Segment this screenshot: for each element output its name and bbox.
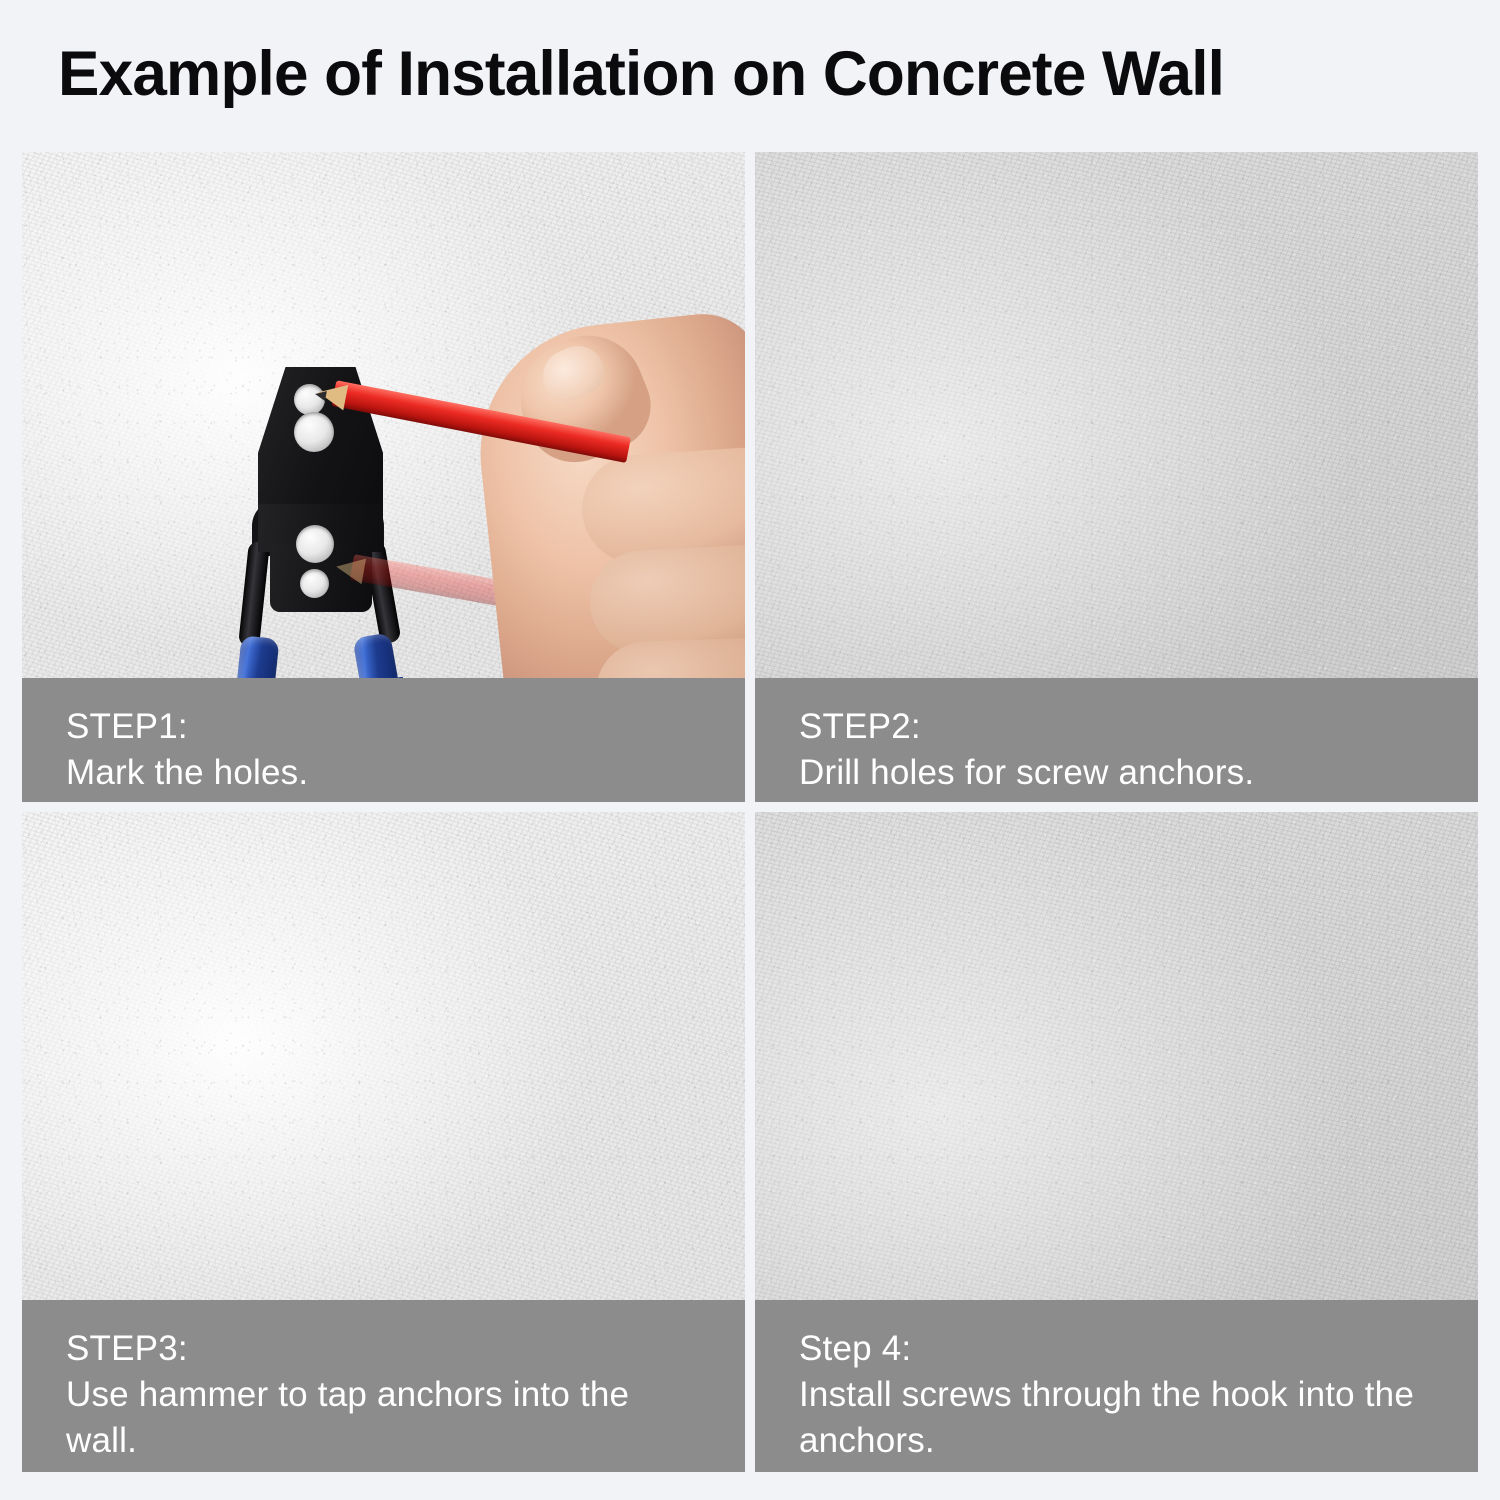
step-3-text: Use hammer to tap anchors into the wall. (66, 1372, 701, 1464)
step-panel-2: 13 11 9 STEP2: Drill holes for screw anc… (755, 152, 1478, 802)
step-panel-3: STEP3: Use hammer to tap anchors into th… (22, 812, 745, 1472)
step-1-label: STEP1: (66, 704, 701, 750)
step-3-caption: STEP3: Use hammer to tap anchors into th… (22, 1300, 745, 1472)
step-4-text: Install screws through the hook into the… (799, 1372, 1434, 1464)
step-4-caption: Step 4: Install screws through the hook … (755, 1300, 1478, 1472)
pencil-lead-icon (314, 389, 327, 401)
step-4-label: Step 4: (799, 1326, 1434, 1372)
screw-hole-4 (300, 569, 329, 598)
step-panel-1: STEP1: Mark the holes. (22, 152, 745, 802)
screw-hole-2 (294, 412, 334, 452)
step-2-caption: STEP2: Drill holes for screw anchors. (755, 678, 1478, 802)
page-title: Example of Installation on Concrete Wall (58, 34, 1437, 114)
step-2-label: STEP2: (799, 704, 1434, 750)
step-1-text: Mark the holes. (66, 750, 701, 796)
step-2-text: Drill holes for screw anchors. (799, 750, 1434, 796)
pencil-ghost-tip-icon (334, 554, 366, 584)
instruction-panel-grid: STEP1: Mark the holes. 13 11 9 STEP2: (22, 152, 1478, 1472)
step-3-label: STEP3: (66, 1326, 701, 1372)
step-1-caption: STEP1: Mark the holes. (22, 678, 745, 802)
screw-hole-3 (296, 525, 334, 563)
step-panel-4: Step 4: Install screws through the hook … (755, 812, 1478, 1472)
